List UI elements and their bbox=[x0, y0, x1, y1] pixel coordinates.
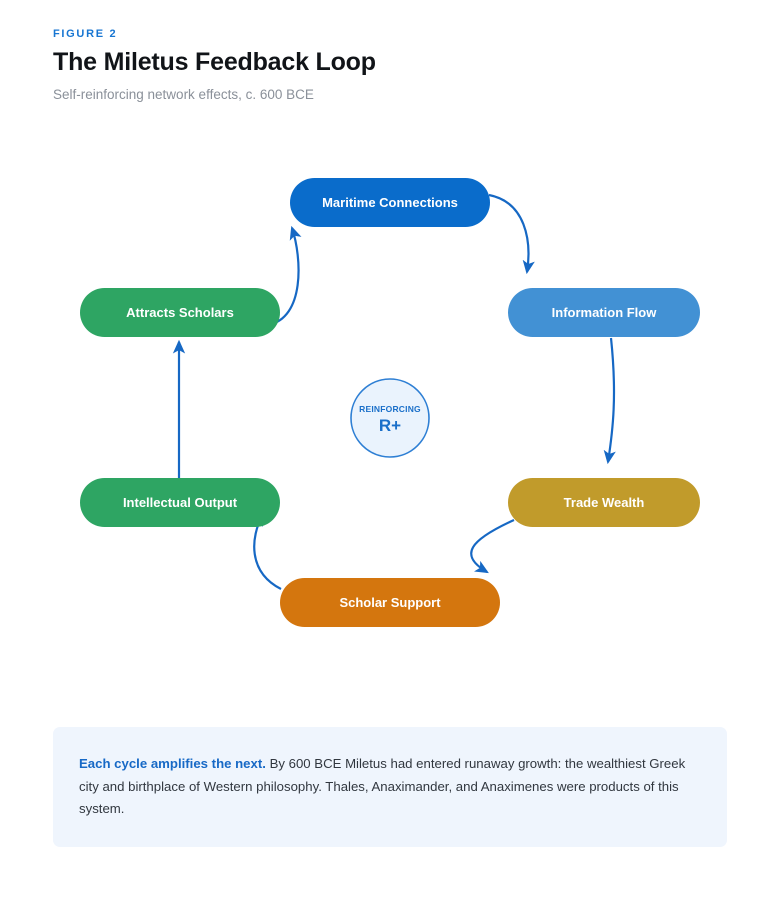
figure-page: FIGURE 2 The Miletus Feedback Loop Self-… bbox=[0, 0, 780, 911]
reinforcing-badge-top-label: REINFORCING bbox=[359, 404, 421, 414]
node-trade-wealth-label: Trade Wealth bbox=[564, 495, 645, 510]
node-maritime-connections-label: Maritime Connections bbox=[322, 195, 458, 210]
node-trade-wealth[interactable]: Trade Wealth bbox=[508, 478, 700, 527]
reinforcing-badge-main-label: R+ bbox=[379, 416, 401, 435]
node-scholar-support[interactable]: Scholar Support bbox=[280, 578, 500, 627]
node-maritime-connections[interactable]: Maritime Connections bbox=[290, 178, 490, 227]
node-information-flow[interactable]: Information Flow bbox=[508, 288, 700, 337]
reinforcing-badge: REINFORCING R+ bbox=[351, 379, 429, 457]
feedback-loop-diagram: Maritime Connections Information Flow Tr… bbox=[0, 140, 780, 700]
figure-eyebrow: FIGURE 2 bbox=[53, 28, 733, 40]
node-information-flow-label: Information Flow bbox=[552, 305, 658, 320]
edge-maritime-to-information bbox=[489, 195, 528, 272]
edge-trade-to-scholar bbox=[471, 520, 514, 572]
node-attracts-scholars-label: Attracts Scholars bbox=[126, 305, 234, 320]
node-scholar-support-label: Scholar Support bbox=[339, 595, 441, 610]
figure-subtitle: Self-reinforcing network effects, c. 600… bbox=[53, 86, 733, 104]
node-intellectual-output[interactable]: Intellectual Output bbox=[80, 478, 280, 527]
summary-callout: Each cycle amplifies the next. By 600 BC… bbox=[53, 727, 727, 847]
node-attracts-scholars[interactable]: Attracts Scholars bbox=[80, 288, 280, 337]
summary-callout-lead: Each cycle amplifies the next. bbox=[79, 756, 266, 771]
edge-information-to-trade bbox=[608, 338, 614, 462]
figure-header: FIGURE 2 The Miletus Feedback Loop Self-… bbox=[53, 28, 733, 103]
page-title: The Miletus Feedback Loop bbox=[53, 48, 733, 77]
summary-callout-text: Each cycle amplifies the next. By 600 BC… bbox=[79, 753, 701, 821]
node-intellectual-output-label: Intellectual Output bbox=[123, 495, 238, 510]
